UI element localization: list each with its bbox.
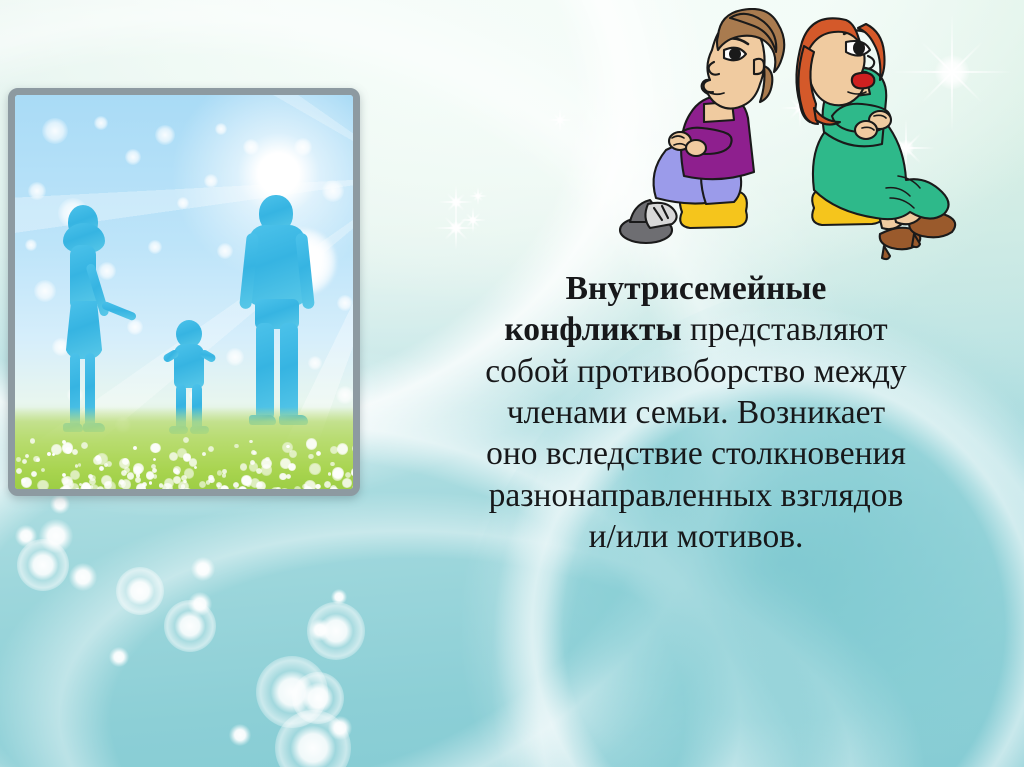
white-flower bbox=[238, 486, 247, 489]
white-flower bbox=[324, 481, 331, 488]
white-flower bbox=[37, 480, 48, 490]
photo-inner bbox=[15, 95, 353, 489]
sparkle-star-icon bbox=[460, 207, 486, 233]
photo-bokeh-circle bbox=[226, 348, 244, 366]
caption-line-5: оно вследствие столкновения bbox=[378, 433, 1014, 474]
caption-line-1: Внутрисемейные bbox=[378, 268, 1014, 309]
white-flower bbox=[62, 440, 66, 444]
white-flower bbox=[89, 478, 96, 485]
white-flower bbox=[36, 458, 40, 462]
bokeh-bubble bbox=[309, 619, 331, 641]
photo-bokeh-circle bbox=[34, 280, 56, 302]
white-flower bbox=[202, 452, 206, 456]
white-flower bbox=[194, 466, 197, 469]
white-flower bbox=[256, 468, 262, 474]
bokeh-bubble bbox=[188, 592, 212, 616]
white-flower bbox=[328, 472, 332, 476]
white-flower bbox=[162, 483, 172, 489]
bokeh-bubble bbox=[292, 672, 345, 725]
bokeh-bubble bbox=[116, 567, 164, 615]
photo-bokeh-circle bbox=[217, 243, 233, 259]
white-flower bbox=[342, 478, 352, 488]
caption-line-6: разнонаправленных взглядов bbox=[378, 475, 1014, 516]
white-flower bbox=[253, 451, 257, 455]
white-flower bbox=[22, 459, 27, 464]
photo-bokeh-circle bbox=[215, 123, 227, 135]
white-flower bbox=[41, 468, 45, 472]
bokeh-bubble bbox=[328, 716, 352, 740]
photo-bokeh-circle bbox=[42, 118, 68, 144]
white-flower bbox=[315, 484, 320, 489]
white-flower bbox=[330, 462, 335, 467]
bokeh-bubble bbox=[69, 563, 98, 592]
white-flower bbox=[217, 470, 222, 475]
white-flower bbox=[93, 456, 102, 465]
white-flower bbox=[280, 458, 291, 469]
caption-line-2: конфликты представляют bbox=[378, 309, 1014, 350]
white-flower bbox=[184, 468, 195, 479]
white-flower bbox=[261, 458, 272, 469]
white-flower bbox=[222, 469, 226, 473]
sparkle-star-icon bbox=[548, 108, 572, 132]
white-flower bbox=[173, 476, 181, 484]
caption-line-3: собой противоборство между bbox=[378, 351, 1014, 392]
presentation-slide: Внутрисемейные конфликты представляют со… bbox=[0, 0, 1024, 767]
white-flower bbox=[199, 481, 206, 488]
photo-bokeh-circle bbox=[94, 116, 108, 130]
white-flower bbox=[118, 480, 126, 488]
white-flower bbox=[208, 475, 214, 481]
photo-bokeh-circle bbox=[337, 295, 353, 311]
white-flower bbox=[240, 463, 247, 470]
sparkle-star-icon bbox=[439, 185, 473, 219]
white-flower bbox=[246, 482, 251, 487]
white-flower bbox=[249, 440, 252, 443]
white-flower bbox=[183, 453, 191, 461]
white-flower bbox=[216, 482, 222, 488]
bokeh-bubble bbox=[17, 539, 70, 592]
bokeh-bubble bbox=[164, 600, 217, 653]
white-flower bbox=[97, 486, 105, 489]
white-flower bbox=[345, 472, 351, 478]
white-flower bbox=[62, 476, 73, 487]
white-flower bbox=[78, 463, 81, 466]
white-flower bbox=[208, 446, 214, 452]
white-flower bbox=[222, 473, 227, 478]
white-flower bbox=[308, 454, 313, 459]
bokeh-bubble bbox=[191, 557, 215, 581]
bokeh-bubble bbox=[275, 710, 352, 767]
white-flower bbox=[47, 452, 51, 456]
white-flower bbox=[257, 482, 262, 487]
photo-bokeh-circle bbox=[294, 138, 312, 156]
white-flower bbox=[136, 483, 146, 489]
bokeh-bubble bbox=[109, 647, 128, 666]
white-flower bbox=[151, 464, 156, 469]
white-flower bbox=[351, 468, 353, 475]
father-silhouette bbox=[243, 195, 315, 443]
family-silhouette-photo bbox=[8, 88, 360, 496]
white-flower bbox=[306, 438, 317, 449]
white-flower bbox=[352, 444, 353, 453]
photo-bokeh-circle bbox=[204, 174, 218, 188]
photo-bokeh-circle bbox=[336, 386, 353, 404]
photo-bokeh-circle bbox=[148, 240, 162, 254]
white-flower bbox=[146, 471, 155, 480]
white-flower bbox=[328, 487, 340, 489]
white-flower bbox=[135, 477, 141, 483]
sparkle-star-icon bbox=[469, 187, 487, 205]
photo-bokeh-circle bbox=[25, 239, 37, 251]
bokeh-bubble bbox=[331, 589, 348, 606]
photo-bokeh-circle bbox=[322, 180, 344, 202]
white-flower bbox=[149, 481, 152, 484]
photo-bokeh-circle bbox=[243, 139, 259, 155]
white-flower bbox=[302, 484, 307, 489]
white-flower bbox=[276, 487, 281, 489]
bokeh-bubble bbox=[50, 494, 69, 513]
photo-bokeh-circle bbox=[127, 319, 143, 335]
caption-line-7: и/или мотивов. bbox=[378, 516, 1014, 557]
bokeh-bubble bbox=[307, 602, 365, 660]
bokeh-bubble bbox=[229, 724, 251, 746]
photo-bokeh-circle bbox=[125, 149, 141, 165]
white-flower bbox=[183, 437, 189, 443]
white-flower bbox=[309, 463, 320, 474]
white-flower bbox=[88, 474, 93, 479]
photo-bokeh-circle bbox=[28, 182, 46, 200]
white-flower bbox=[127, 472, 134, 479]
white-flower bbox=[80, 484, 91, 489]
white-flower bbox=[133, 446, 137, 450]
white-flower bbox=[352, 484, 353, 489]
photo-bokeh-circle bbox=[177, 197, 189, 209]
white-flower bbox=[16, 468, 22, 474]
arguing-couple-clipart bbox=[618, 8, 978, 270]
caption-line-4: членами семьи. Возникает bbox=[378, 392, 1014, 433]
white-flower bbox=[294, 486, 301, 489]
white-flower bbox=[234, 444, 239, 449]
white-flower bbox=[332, 467, 344, 479]
bokeh-bubble bbox=[15, 525, 37, 547]
bokeh-bubble bbox=[39, 519, 73, 553]
photo-bokeh-circle bbox=[155, 125, 175, 145]
white-flower bbox=[31, 471, 37, 477]
mother-silhouette bbox=[57, 205, 117, 440]
bokeh-bubble bbox=[256, 656, 328, 728]
sparkle-star-icon bbox=[434, 206, 478, 250]
white-flower bbox=[16, 457, 20, 461]
caption-text: Внутрисемейные конфликты представляют со… bbox=[378, 268, 1014, 558]
